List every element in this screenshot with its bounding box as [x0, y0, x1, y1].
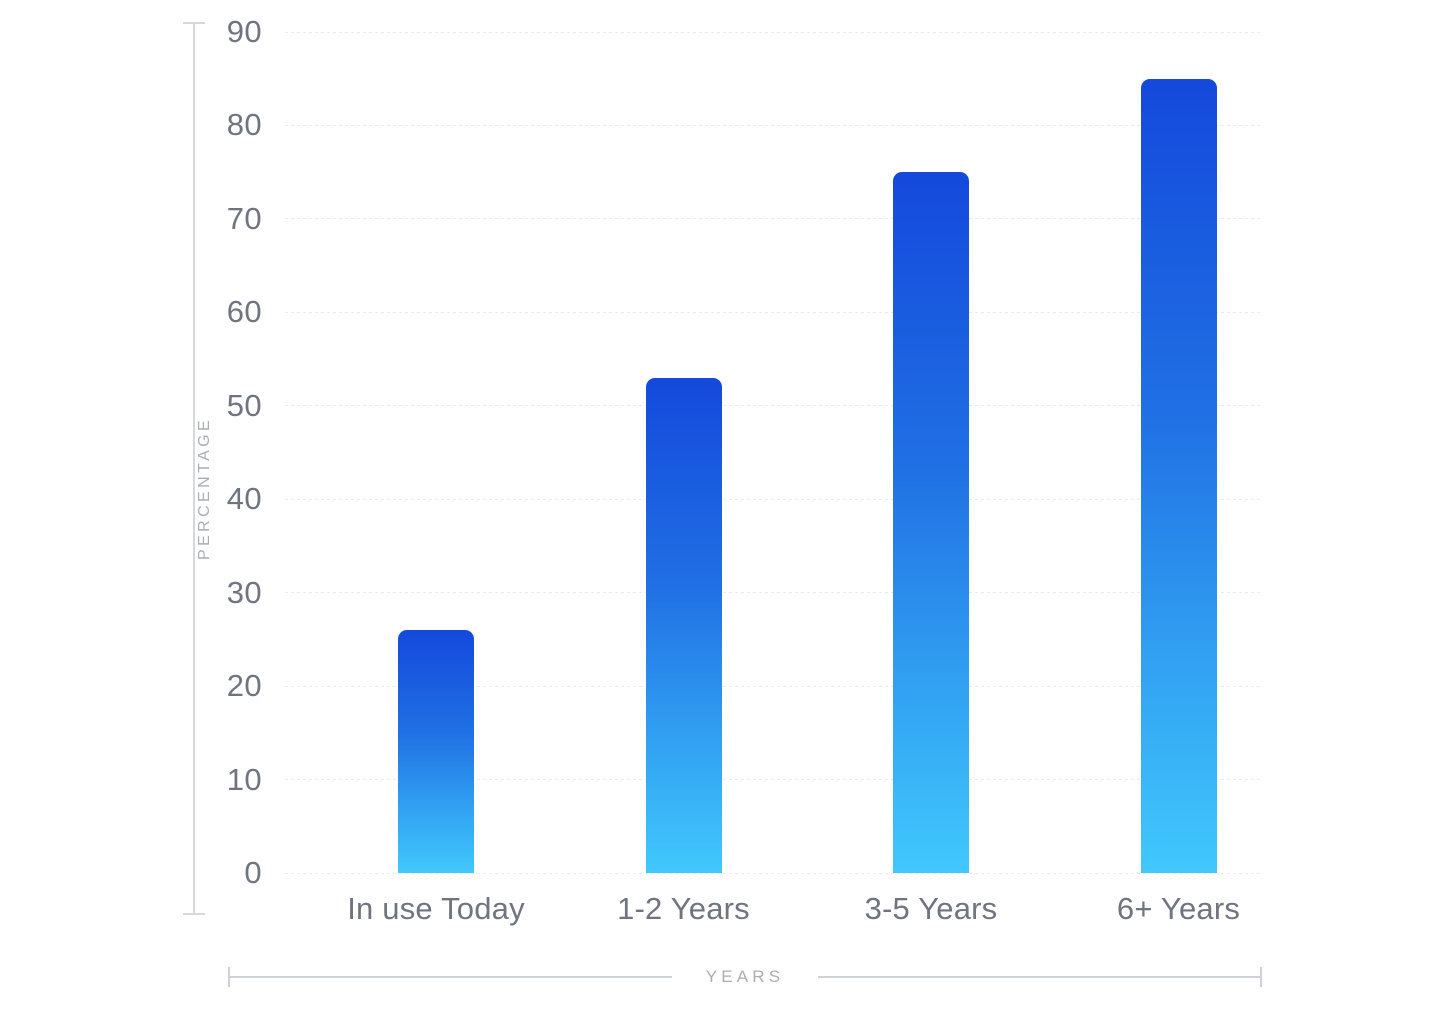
bar[interactable] — [1141, 79, 1217, 873]
y-tick-label: 90 — [227, 16, 262, 47]
y-tick-label: 0 — [244, 857, 262, 888]
gridline — [285, 592, 1260, 593]
plot-area: 0102030405060708090In use Today1-2 Years… — [0, 0, 1440, 1016]
y-tick-label: 70 — [227, 203, 262, 234]
gridline — [285, 405, 1260, 406]
gridline — [285, 125, 1260, 126]
y-tick-label: 80 — [227, 109, 262, 140]
gridline — [285, 32, 1260, 33]
y-tick-label: 30 — [227, 577, 262, 608]
bar-chart: PERCENTAGE 0102030405060708090In use Tod… — [0, 0, 1440, 1016]
x-axis-title: YEARS — [672, 967, 819, 987]
y-tick-label: 10 — [227, 764, 262, 795]
x-axis-rule-right — [818, 976, 1262, 978]
x-axis-rule-left — [228, 976, 672, 978]
bar[interactable] — [398, 630, 474, 873]
gridline — [285, 499, 1260, 500]
x-axis-title-group: YEARS — [228, 962, 1262, 992]
y-tick-label: 60 — [227, 296, 262, 327]
y-tick-label: 40 — [227, 483, 262, 514]
gridline — [285, 312, 1260, 313]
x-tick-label: 6+ Years — [1019, 891, 1339, 927]
gridline — [285, 218, 1260, 219]
y-tick-label: 50 — [227, 390, 262, 421]
bar[interactable] — [893, 172, 969, 873]
y-tick-label: 20 — [227, 670, 262, 701]
bar[interactable] — [646, 378, 722, 873]
